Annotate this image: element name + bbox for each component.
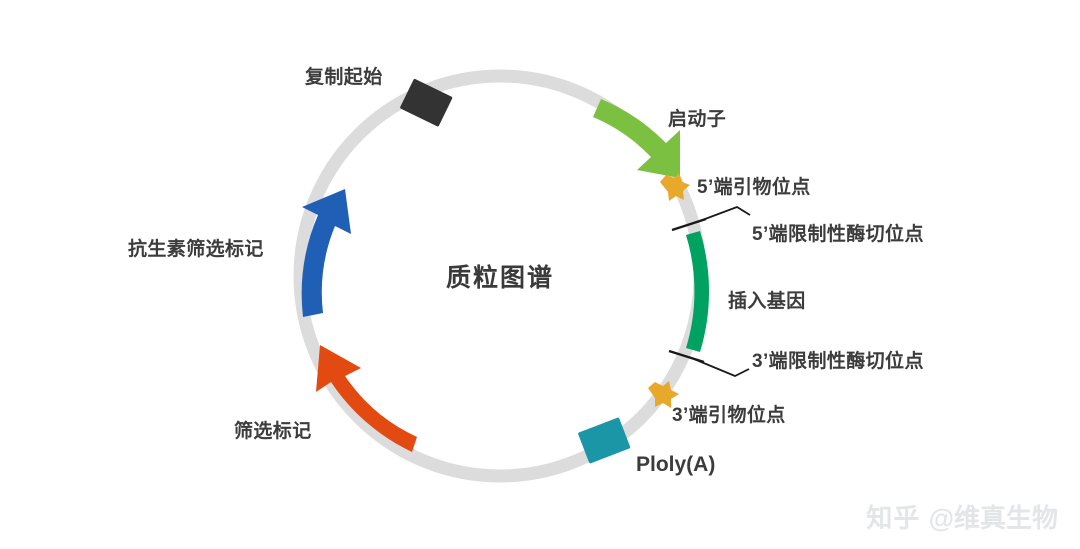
label-antibiotic-marker: 抗生素筛选标记 bbox=[128, 240, 264, 261]
label-restriction-3: 3’端限制性酶切位点 bbox=[752, 352, 924, 373]
watermark: 知乎 @维真生物 bbox=[866, 498, 1058, 535]
leader-line-restriction-5 bbox=[697, 207, 750, 222]
watermark-site-label: 知乎 bbox=[866, 503, 920, 533]
feature-antibiotic-marker bbox=[302, 189, 351, 317]
leader-line-restriction-3 bbox=[694, 359, 749, 376]
label-selection-marker: 筛选标记 bbox=[234, 422, 312, 443]
label-polya: Ploly(A) bbox=[636, 453, 715, 476]
page-title: 质粒图谱 bbox=[0, 258, 1000, 294]
label-restriction-5: 5’端限制性酶切位点 bbox=[752, 225, 924, 246]
label-promoter: 启动子 bbox=[668, 110, 726, 131]
label-primer-3: 3’端引物位点 bbox=[672, 406, 786, 427]
feature-selection-marker bbox=[316, 345, 417, 452]
label-origin-of-replication: 复制起始 bbox=[305, 68, 383, 89]
label-primer-5: 5’端引物位点 bbox=[697, 178, 811, 199]
watermark-user-label: @维真生物 bbox=[929, 503, 1058, 533]
feature-promoter bbox=[593, 99, 680, 178]
label-insert-gene: 插入基因 bbox=[728, 292, 806, 313]
plasmid-map-figure: 质粒图谱 复制起始 启动子 5’端引物位点 5’端限制性酶切位点 插入基因 3’… bbox=[0, 0, 1080, 549]
